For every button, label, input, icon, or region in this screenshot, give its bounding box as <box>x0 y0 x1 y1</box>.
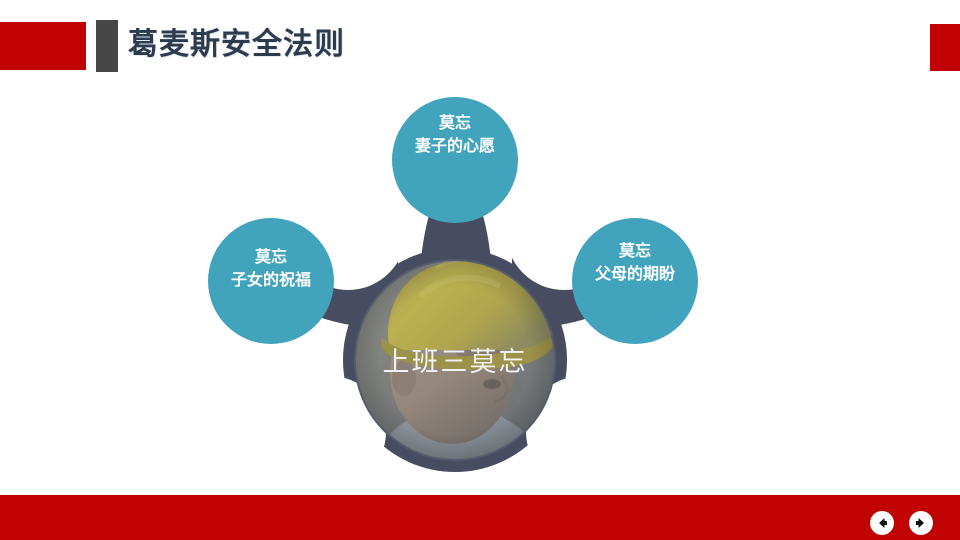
previous-slide-button[interactable] <box>870 511 894 535</box>
arrow-left-icon <box>875 516 889 530</box>
node-circle-left <box>208 218 334 344</box>
presentation-slide: 葛麦斯安全法则 <box>0 0 960 540</box>
arrow-right-icon <box>914 516 928 530</box>
footer-bar <box>0 495 960 540</box>
next-slide-button[interactable] <box>909 511 933 535</box>
node-circle-top <box>392 97 518 223</box>
node-circle-right <box>572 218 698 344</box>
hub-and-spoke-diagram: 莫忘 妻子的心愿 莫忘 子女的祝福 莫忘 父母的期盼 上班三莫忘 <box>0 0 960 540</box>
